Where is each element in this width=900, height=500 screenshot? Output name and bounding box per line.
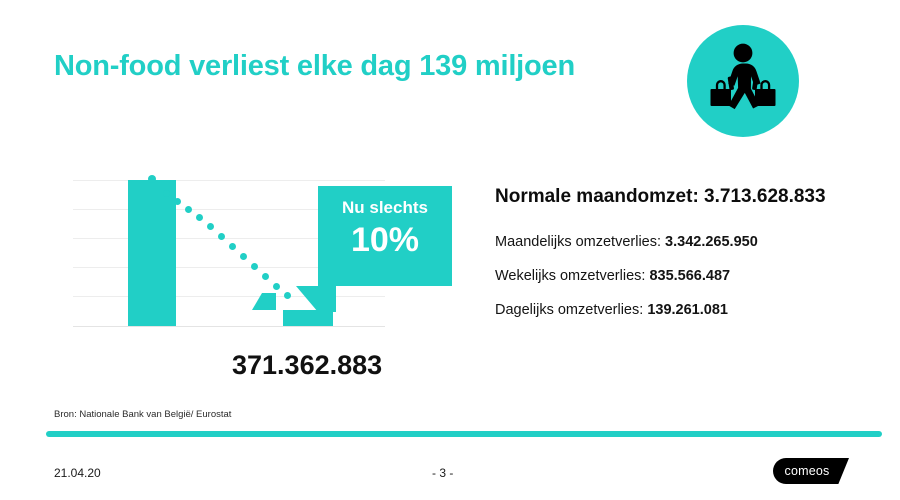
trend-dot	[262, 273, 269, 280]
stat-value: 139.261.081	[647, 302, 728, 318]
trend-dot	[163, 190, 170, 197]
footer-divider	[46, 431, 882, 437]
stat-value: 835.566.487	[649, 268, 730, 284]
axis-baseline	[73, 326, 385, 327]
trend-dot	[251, 263, 258, 270]
callout-bubble: Nu slechts 10%	[318, 186, 452, 286]
stats-block: Normale maandomzet: 3.713.628.833 Maande…	[495, 186, 885, 336]
callout-tail	[296, 286, 336, 312]
stat-label: Dagelijks omzetverlies:	[495, 302, 643, 318]
source-note: Bron: Nationale Bank van België/ Eurosta…	[54, 409, 231, 420]
stat-row-weekly: Wekelijks omzetverlies: 835.566.487	[495, 268, 885, 284]
trend-dot	[185, 206, 192, 213]
footer-page-number: - 3 -	[432, 466, 453, 480]
callout-value: 10%	[318, 222, 452, 259]
page-title: Non-food verliest elke dag 139 miljoen	[54, 50, 575, 83]
bar-normal-revenue	[128, 180, 176, 326]
comeos-logo-text: comeos	[773, 464, 841, 478]
gridline	[73, 296, 385, 297]
trend-dot	[284, 292, 291, 299]
footer-date: 21.04.20	[54, 466, 101, 480]
trend-dot	[196, 214, 203, 221]
stat-row-monthly: Maandelijks omzetverlies: 3.342.265.950	[495, 234, 885, 250]
trend-dot	[218, 233, 225, 240]
slide: Non-food verliest elke dag 139 miljoen	[0, 0, 900, 500]
trend-dot	[174, 198, 181, 205]
trend-dot	[273, 283, 280, 290]
callout-heading: Nu slechts	[318, 198, 452, 218]
trend-dot	[229, 243, 236, 250]
shopper-with-bags-icon	[687, 25, 799, 137]
comeos-logo: comeos	[773, 458, 849, 484]
trend-dot	[207, 223, 214, 230]
stat-label: Wekelijks omzetverlies:	[495, 268, 645, 284]
trend-arrow-head	[252, 293, 276, 310]
stat-row-daily: Dagelijks omzetverlies: 139.261.081	[495, 302, 885, 318]
chart-total-value: 371.362.883	[232, 350, 382, 381]
stat-headline: Normale maandomzet: 3.713.628.833	[495, 186, 885, 208]
stat-value: 3.342.265.950	[665, 234, 758, 250]
bar-current-revenue	[283, 310, 333, 326]
trend-dot	[240, 253, 247, 260]
trend-peak-dot	[148, 175, 156, 183]
gridline	[73, 180, 385, 181]
stat-label: Maandelijks omzetverlies:	[495, 234, 661, 250]
